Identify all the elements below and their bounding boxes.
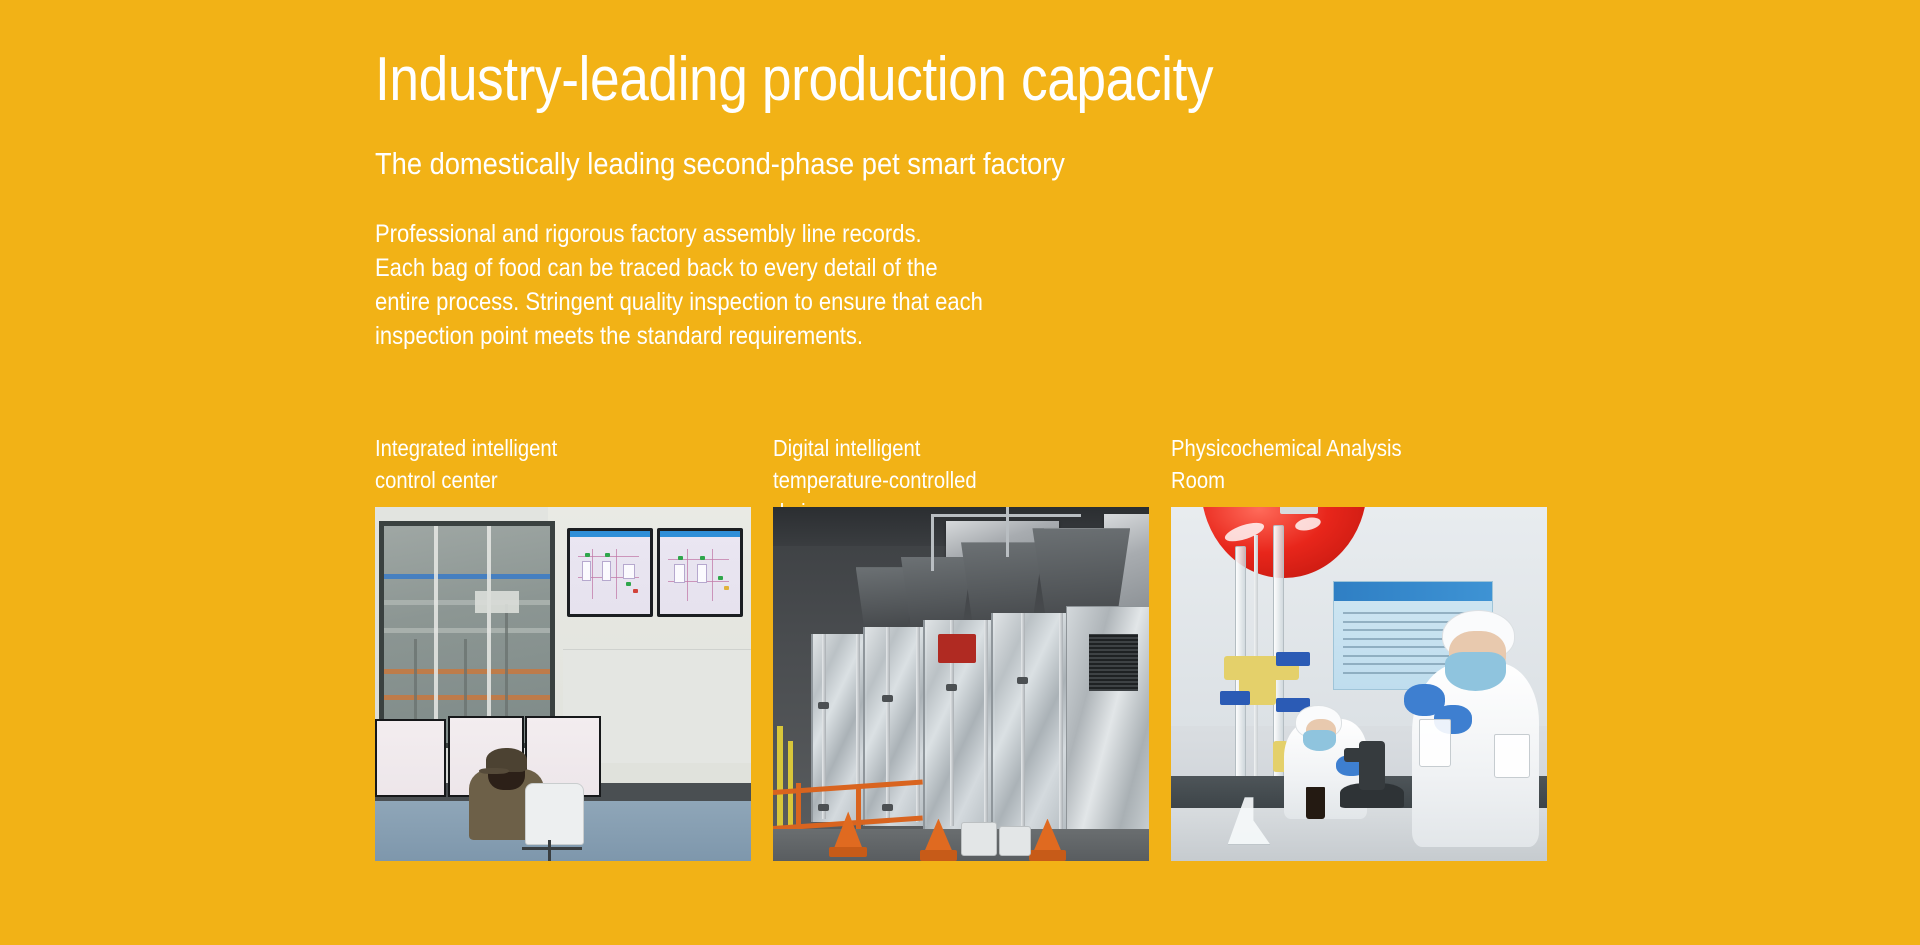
status-dot [724,586,729,590]
hmi-line [592,549,593,599]
text-block: Industry-leading production capacity The… [375,48,1375,353]
window-beam [384,669,551,674]
status-dot [718,576,723,580]
body-line: Each bag of food can be traced back to e… [375,251,1255,285]
traffic-cone-base [1029,850,1067,861]
cabinet-rail [1059,613,1063,829]
status-dot [626,582,631,586]
sample-vial [1306,787,1325,819]
display-screen [570,531,650,614]
lamp-stem [1280,507,1318,514]
hmi-box [623,564,635,579]
body-line: Professional and rigorous factory assemb… [375,217,1255,251]
card-caption: Physicochemical Analysis Room [1171,432,1502,507]
subtitle: The domestically leading second-phase pe… [375,147,1255,181]
cabinet-latch[interactable] [882,695,893,702]
photo-analysis-room [1171,507,1547,861]
photo-card-analysis-room: Physicochemical Analysis Room [1171,432,1547,861]
status-dot [678,556,683,560]
window-mullion [434,526,438,743]
window-beam [384,695,551,700]
status-dot [605,553,610,557]
body-paragraph: Professional and rigorous factory assemb… [375,217,1255,353]
window-mullion [487,526,491,743]
chair-leg [522,847,582,850]
traffic-cone-base [829,847,867,858]
reagent-bottle [1494,734,1530,778]
cabinet-rail [984,620,988,825]
technician-mask [1445,652,1505,691]
extraction-hood [901,557,972,628]
traffic-cone-base [920,850,958,861]
cabinet-rail [916,627,920,822]
poster-header [1334,582,1492,601]
window [379,521,556,748]
hmi-box [582,561,591,581]
desk-monitor [375,719,446,797]
vent-grille [1089,634,1138,691]
operator-cap [486,748,527,773]
hmi-box [674,564,684,583]
cabinet-latch[interactable] [818,702,829,709]
slide-root: Industry-leading production capacity The… [0,0,1920,945]
status-dot [633,589,638,593]
hmi-line [616,549,617,599]
window-beam [384,628,551,633]
poster-text-line [1343,621,1460,623]
chair [525,783,583,845]
page-title: Industry-leading production capacity [375,48,1235,111]
display-screen [660,531,740,614]
cabinet-rail [1021,613,1025,829]
caption-line: temperature-controlled [773,464,1104,496]
control-box [938,634,976,662]
body-line: entire process. Stringent quality inspec… [375,285,1255,319]
chair-leg [548,840,551,861]
poster-text-line [1343,638,1450,640]
card-caption: Digital intelligent temperature-controll… [773,432,1104,507]
photo-drying-oven [773,507,1149,861]
wall-display [657,528,743,617]
clamp-knob [1220,691,1250,705]
wall-display [567,528,653,617]
poster-text-line [1343,672,1438,674]
poster-text-line [1343,612,1472,614]
hmi-line [687,549,688,600]
hmi-line [712,549,713,600]
caption-line: Room [1171,464,1502,496]
hmi-box [602,561,611,581]
clamp-knob [1276,652,1310,666]
microscope-stage [1344,748,1382,762]
extraction-hood [961,542,1044,623]
caption-line: Digital intelligent [773,432,1104,464]
drum [999,826,1031,856]
window-beam [384,574,551,579]
caption-line: Physicochemical Analysis [1171,432,1502,464]
photo-card-drying-oven: Digital intelligent temperature-controll… [773,432,1149,861]
window-panel [475,591,518,613]
photo-card-row: Integrated intelligent control center [375,432,1547,861]
status-dot [585,553,590,557]
body-line: inspection point meets the standard requ… [375,319,1255,353]
frame-beam [931,514,934,571]
cabinet-latch[interactable] [1017,677,1028,684]
status-dot [700,556,705,560]
window-structure [505,604,508,734]
drum [961,822,997,856]
poster-text-line [1343,655,1457,657]
cabinet-latch[interactable] [946,684,957,691]
monitor-screen [377,721,444,795]
cabinet-latch[interactable] [818,804,829,811]
photo-control-center [375,507,751,861]
reagent-bottle [1419,719,1451,767]
cabinet-latch[interactable] [882,804,893,811]
frame-beam [931,514,1081,517]
card-caption: Integrated intelligent control center [375,432,706,507]
window-beam [384,600,551,605]
photo-card-control-center: Integrated intelligent control center [375,432,751,861]
cabinet-rail [886,627,890,822]
vent-stripes [1089,634,1138,691]
caption-line: Integrated intelligent [375,432,706,464]
hmi-box [697,564,707,583]
caption-line: control center [375,464,706,496]
